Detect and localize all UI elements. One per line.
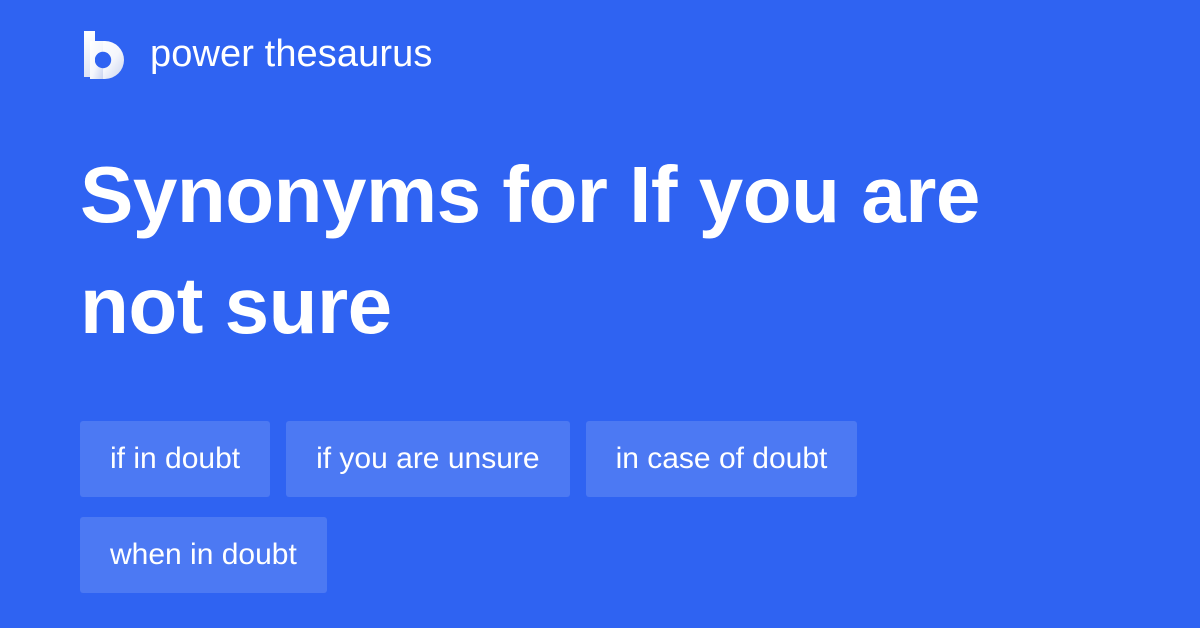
share-card: power thesaurus Synonyms for If you are … [0, 0, 1200, 628]
power-thesaurus-b-logo-icon [82, 29, 128, 79]
brand-header[interactable]: power thesaurus [82, 28, 432, 80]
synonym-chip-list: if in doubt if you are unsure in case of… [80, 421, 1120, 593]
synonym-chip[interactable]: in case of doubt [586, 421, 858, 497]
synonym-chip[interactable]: when in doubt [80, 517, 327, 593]
brand-name: power thesaurus [150, 35, 432, 73]
synonym-chip[interactable]: if you are unsure [286, 421, 569, 497]
synonym-chip[interactable]: if in doubt [80, 421, 270, 497]
page-title: Synonyms for If you are not sure [80, 139, 1060, 361]
